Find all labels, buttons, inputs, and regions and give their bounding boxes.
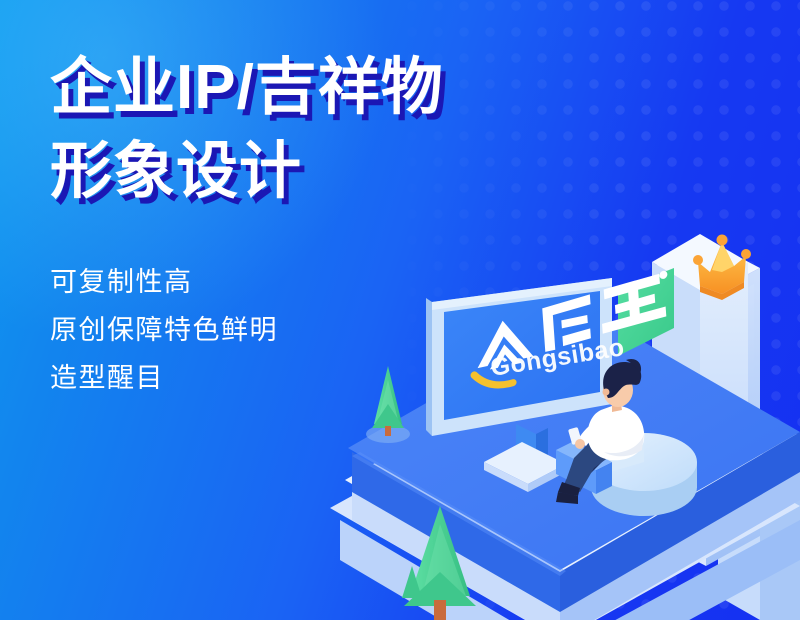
feature-item-2: 原创保障特色鲜明 [50,306,670,354]
headline-line-1: 企业IP/吉祥物 [50,46,670,130]
feature-list: 可复制性高 原创保障特色鲜明 造型醒目 [50,258,670,402]
feature-item-1: 可复制性高 [50,258,670,306]
feature-item-3: 造型醒目 [50,354,670,402]
promo-banner: Gongsibao [0,0,800,620]
copy-block: 企业IP/吉祥物 形象设计 可复制性高 原创保障特色鲜明 造型醒目 [50,46,670,402]
headline-line-2: 形象设计 [50,130,670,214]
